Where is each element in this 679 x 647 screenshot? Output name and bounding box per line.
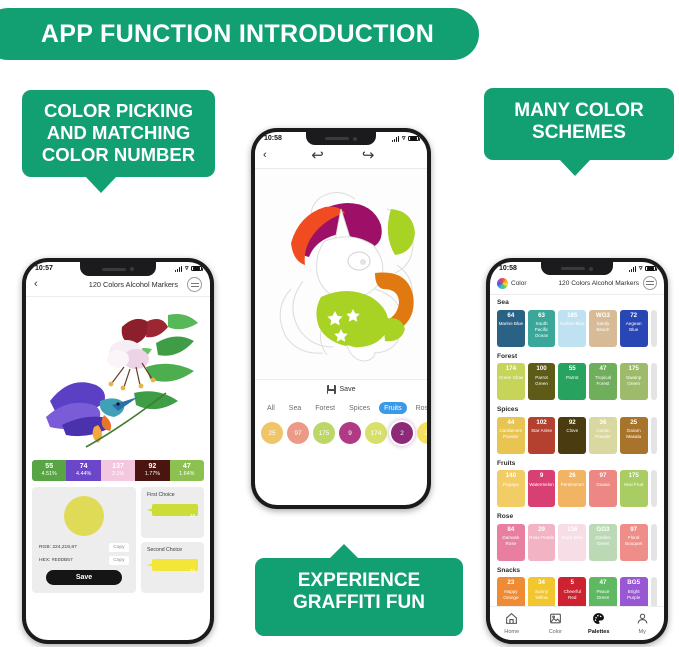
palette-card-name: Watermelon [528,482,555,488]
battery-icon [645,266,656,272]
nav-title: 120 Colors Alcohol Markers [527,280,643,287]
status-time: 10:58 [264,135,282,142]
swatch-item[interactable]: 55 4.51% [32,460,66,481]
swatch-percent: 1.77% [135,471,169,477]
palette-card-name: Parrot Green [528,375,556,386]
callout-graffiti-fun: EXPERIENCE GRAFFITI FUN [255,558,463,636]
palette-card[interactable]: 23Happy Orange [497,577,525,609]
palette-card[interactable]: 136Rose Dew [558,524,586,561]
palette-group: Spices44Cardamom Powder102Star Anise92Cl… [490,402,664,456]
palette-card-name: Guava [595,482,611,488]
tab-color-label: Color [549,629,562,635]
palette-card[interactable]: 9Watermelon [528,470,556,507]
color-wheel-icon [497,278,508,289]
palette-card[interactable]: BG5Bright Purple [620,577,648,609]
palette-card[interactable]: 5Cheerful Red [558,577,586,609]
undo-redo-group: ↩ ↪ [267,146,419,164]
status-indicators: ▿ [629,265,656,272]
palette-group-title: Fruits [497,460,657,467]
palette-card[interactable]: 72Aegean Blue [620,310,648,347]
coloring-canvas[interactable] [255,169,427,379]
signal-icon [629,266,637,272]
signal-icon [392,136,400,142]
palette-card-code: 47 [600,366,607,373]
palette-card-code: 174 [506,366,516,373]
phone-notch [541,262,613,275]
palette-card[interactable]: 174Green Glow [497,363,525,400]
palette-card-name: Happy Orange [497,589,525,600]
color-dot[interactable]: 9 [339,422,361,444]
second-choice-marker: 31 [147,557,198,574]
wifi-icon: ▿ [639,265,643,272]
palette-group: Rose84Damask Rose29Rose Petals136Rose De… [490,509,664,563]
palette-card-code: 47 [600,580,607,587]
palette-card[interactable]: 63South Pacific Ocean [528,310,556,347]
palette-card-code: 175 [629,366,639,373]
status-time: 10:58 [499,265,517,272]
swatch-item[interactable]: 137 3.1% [101,460,135,481]
tab-spices[interactable]: Spices [344,402,375,414]
palette-card[interactable]: 175Kiwi Fruit [620,470,648,507]
palette-card-code: WG3 [596,313,610,320]
save-icon [327,385,336,394]
nav-title: 120 Colors Alcohol Markers [43,280,182,289]
palette-card[interactable]: 25Garam Masala [620,417,648,454]
first-choice-card[interactable]: First Choice 48 [141,487,204,538]
palette-group: Snacks23Happy Orange34Sunny Yellow5Cheer… [490,563,664,610]
menu-icon[interactable] [643,276,657,290]
phone-notch [306,132,376,145]
palette-tab-strip: All Sea Forest Spices Fruits Rose [255,399,427,418]
palette-card-name: Garam Masala [620,428,648,439]
palette-group-title: Sea [497,299,657,306]
save-row[interactable]: Save [255,379,427,399]
status-indicators: ▿ [392,135,419,142]
callout-tail [329,544,359,559]
picked-color-panels: RGB: 224,219,87 Copy HEX: #E0DB57 Copy S… [32,487,204,593]
palette-card-row: 64Marine Blue63South Pacific Ocean185Har… [497,310,657,347]
palette-card-code: 23 [507,580,514,587]
phone-graffiti-editor: 10:58 ▿ ‹ ↩ ↪ [251,128,431,509]
palette-card-name: Rose Petals [528,535,555,541]
person-icon [636,612,649,627]
palette-card-name: Papaya [502,482,520,488]
palette-card-name: Marine Blue [498,321,525,327]
palette-card[interactable]: 55Parrot [558,363,586,400]
marker-number: 31 [190,568,195,573]
bottom-tab-bar: Home Color [490,606,664,640]
header-banner: APP FUNCTION INTRODUCTION [0,8,479,60]
palette-card-name: Cumin Powder [589,428,617,439]
speaker-icon [325,137,349,140]
swatch-number: 74 [66,463,100,471]
callout-color-picking: COLOR PICKING AND MATCHING COLOR NUMBER [22,90,215,177]
save-button[interactable]: Save [46,570,122,585]
marker-number: 48 [190,513,195,518]
palette-card[interactable]: 175Swamp Green [620,363,648,400]
tab-my-label: My [639,629,646,635]
palette-card-code: 175 [629,473,639,480]
palette-card[interactable]: 44Cardamom Powder [497,417,525,454]
palette-group-title: Snacks [497,567,657,574]
home-icon [505,612,518,627]
palette-list[interactable]: Sea64Marine Blue63South Pacific Ocean185… [490,295,664,609]
callout-tail [559,159,591,176]
palette-card-name: Aegean Blue [620,321,648,332]
palette-card-overflow[interactable] [651,470,657,507]
palette-card-name: Parrot [565,375,580,381]
menu-icon[interactable] [187,277,202,292]
tab-my[interactable]: My [621,612,665,635]
palette-card[interactable]: 97Floral Bouquet [620,524,648,561]
phone-screen-left: 10:57 ▿ ‹ 120 Colors Alcohol Markers [26,262,210,640]
palette-card[interactable]: 29Rose Petals [528,524,556,561]
palette-card-code: GG3 [596,527,609,534]
tab-home-label: Home [504,629,519,635]
palette-card-code: 9 [540,473,543,480]
palette-group-title: Rose [497,513,657,520]
wifi-icon: ▿ [402,135,406,142]
color-dot[interactable]: 97 [287,422,309,444]
color-dot[interactable]: 175 [313,422,335,444]
palette-card[interactable]: 185Harbor Blue [558,310,586,347]
wifi-icon: ▿ [185,265,189,272]
palette-card-code: 25 [630,420,637,427]
palette-card-name: Rose Dew [561,535,584,541]
palette-icon [592,612,605,627]
palette-card-name: Peace Green [589,589,617,600]
palette-card-code: 5 [571,580,574,587]
swatch-item[interactable]: 92 1.77% [135,460,169,481]
callout-tail [85,176,117,193]
unicorn-artwork [255,169,427,379]
palette-card-code: 100 [536,366,546,373]
swatch-percent: 1.64% [170,471,204,477]
palette-card-name: Cheerful Red [558,589,586,600]
swatch-number: 55 [32,463,66,471]
palette-card[interactable]: 36Cumin Powder [589,417,617,454]
swatch-item[interactable]: 74 4.44% [66,460,100,481]
palette-card-overflow[interactable] [651,417,657,454]
color-dot-selected[interactable]: 2 [391,422,413,444]
palette-card-code: 84 [507,527,514,534]
palette-card-name: Swamp Green [620,375,648,386]
palette-card-code: 136 [567,527,577,534]
palette-card-code: 36 [600,420,607,427]
palette-card-code: 185 [567,313,577,320]
hummingbird-artwork [26,297,210,455]
palette-card-name: Sandy Beach [589,321,617,332]
hex-value: HEX: #E0DB57 [39,558,73,563]
palette-card[interactable]: 102Star Anise [528,417,556,454]
copy-hex-button[interactable]: Copy [109,556,129,565]
palette-card-name: Kiwi Fruit [623,482,644,488]
camera-icon [353,137,357,141]
tab-sea[interactable]: Sea [284,402,306,414]
editor-toolbar: ‹ ↩ ↪ [255,143,427,169]
palette-card-name: Bright Purple [620,589,648,600]
palette-card-code: 92 [569,420,576,427]
color-dot-strip: 25 97 175 9 174 2 26 [255,418,427,450]
palette-card-name: Tropical Forest [589,375,617,386]
swatch-number: 47 [170,463,204,471]
battery-icon [408,136,419,142]
palette-card-code: 34 [538,580,545,587]
back-button[interactable]: ‹ [34,279,38,290]
palette-card-overflow[interactable] [651,363,657,400]
palette-card-name: Sunny Yellow [528,589,556,600]
undo-icon[interactable]: ↩ [311,146,324,164]
palette-card[interactable]: 100Parrot Green [528,363,556,400]
palette-card[interactable]: GG3Garden Green [589,524,617,561]
palette-card-overflow[interactable] [651,577,657,609]
palette-card-name: Star Anise [530,428,553,434]
color-dot[interactable]: 26 [417,422,427,444]
picked-color-panel: RGB: 224,219,87 Copy HEX: #E0DB57 Copy S… [32,487,136,593]
palette-group: Fruits140Papaya9Watermelon26Persimmon97G… [490,456,664,510]
redo-icon[interactable]: ↪ [362,146,375,164]
palette-card-code: 140 [506,473,516,480]
callout-left-text: COLOR PICKING AND MATCHING COLOR NUMBER [22,90,215,175]
palette-group: Sea64Marine Blue63South Pacific Ocean185… [490,295,664,349]
tab-home[interactable]: Home [490,612,534,635]
first-choice-label: First Choice [147,492,198,498]
phone-screen-mid: 10:58 ▿ ‹ ↩ ↪ [255,132,427,505]
battery-icon [191,266,202,272]
palette-group-title: Spices [497,406,657,413]
tab-all[interactable]: All [262,402,280,414]
palette-card-row: 174Green Glow100Parrot Green55Parrot47Tr… [497,363,657,400]
palette-group-title: Forest [497,353,657,360]
rgb-row: RGB: 224,219,87 Copy [39,543,129,552]
palette-card-name: South Pacific Ocean [528,321,556,338]
tab-color[interactable]: Color [534,612,578,635]
status-time: 10:57 [35,265,53,272]
tab-palettes[interactable]: Palettes [577,612,621,635]
palette-card[interactable]: 140Papaya [497,470,525,507]
palette-card-row: 44Cardamom Powder102Star Anise92Clove36C… [497,417,657,454]
hex-row: HEX: #E0DB57 Copy [39,556,129,565]
color-dot[interactable]: 174 [365,422,387,444]
palette-card-row: 140Papaya9Watermelon26Persimmon97Guava17… [497,470,657,507]
second-choice-label: Second Choice [147,547,198,553]
palette-card[interactable]: 97Guava [589,470,617,507]
phone-screen-right: 10:58 ▿ Color 120 Colors Alcohol Markers… [490,262,664,640]
palette-card-overflow[interactable] [651,524,657,561]
palette-card[interactable]: 26Persimmon [558,470,586,507]
image-icon [549,612,562,627]
choice-panels: First Choice 48 Second Choice 31 [141,487,204,593]
palette-card-code: 72 [630,313,637,320]
palette-card-code: 29 [538,527,545,534]
phone-notch [80,262,156,276]
tab-palettes-label: Palettes [588,629,609,635]
camera-icon [589,267,593,271]
copy-rgb-button[interactable]: Copy [109,543,129,552]
palette-card-code: 63 [538,313,545,320]
palette-card[interactable]: 34Sunny Yellow [528,577,556,609]
palette-card-name: Persimmon [560,482,585,488]
camera-icon [130,267,134,271]
palette-card-overflow[interactable] [651,310,657,347]
swatch-percent: 3.1% [101,471,135,477]
speaker-icon [561,267,585,270]
palette-card-row: 84Damask Rose29Rose Petals136Rose DewGG3… [497,524,657,561]
palette-card-code: 97 [630,527,637,534]
phone-color-picker: 10:57 ▿ ‹ 120 Colors Alcohol Markers [22,258,214,644]
callout-many-color-schemes: MANY COLOR SCHEMES [484,88,674,160]
swatch-percent: 4.51% [32,471,66,477]
palette-card-name: Green Glow [498,375,525,381]
palette-card[interactable]: 47Tropical Forest [589,363,617,400]
first-choice-marker: 48 [147,502,198,519]
status-indicators: ▿ [175,265,202,272]
palette-card-name: Floral Bouquet [620,535,648,546]
speaker-icon [102,268,126,271]
palette-card-name: Garden Green [589,535,617,546]
palette-card[interactable]: 64Marine Blue [497,310,525,347]
palette-card-code: 44 [507,420,514,427]
infographic-page: APP FUNCTION INTRODUCTION COLOR PICKING … [0,0,679,647]
palette-card-name: Harbor Blue [559,321,586,327]
palette-card-code: 97 [600,473,607,480]
palette-group: Forest174Green Glow100Parrot Green55Parr… [490,349,664,403]
palette-card-name: Damask Rose [497,535,525,546]
palettes-nav-bar: Color 120 Colors Alcohol Markers [490,273,664,295]
tab-forest[interactable]: Forest [310,402,340,414]
palette-card-name: Cardamom Powder [497,428,525,439]
palette-card[interactable]: 92Clove [558,417,586,454]
palette-card-code: BG5 [627,580,640,587]
app-name-label: Color [511,280,527,287]
palette-card-code: 102 [536,420,546,427]
swatch-percent: 4.44% [66,471,100,477]
second-choice-card[interactable]: Second Choice 31 [141,542,204,593]
palette-card-name: Clove [565,428,579,434]
nav-bar: ‹ 120 Colors Alcohol Markers [26,273,210,297]
rgb-value: RGB: 224,219,87 [39,545,77,550]
callout-bottom-text: EXPERIENCE GRAFFITI FUN [255,558,463,625]
phone-palettes: 10:58 ▿ Color 120 Colors Alcohol Markers… [486,258,668,644]
swatch-number: 137 [101,463,135,471]
palette-card-row: 23Happy Orange34Sunny Yellow5Cheerful Re… [497,577,657,609]
save-label: Save [340,386,356,393]
swatch-item[interactable]: 47 1.64% [170,460,204,481]
palette-card[interactable]: WG3Sandy Beach [589,310,617,347]
signal-icon [175,266,183,272]
photo-preview[interactable] [26,297,210,455]
tab-fruits[interactable]: Fruits [379,402,407,414]
picked-color-sample [64,496,104,536]
page-title: APP FUNCTION INTRODUCTION [27,20,434,49]
palette-card[interactable]: 47Peace Green [589,577,617,609]
swatch-number: 92 [135,463,169,471]
palette-card-code: 64 [507,313,514,320]
callout-right-text: MANY COLOR SCHEMES [484,88,674,155]
palette-card-code: 55 [569,366,576,373]
tab-rose[interactable]: Rose [411,402,427,414]
palette-card-code: 26 [569,473,576,480]
palette-card[interactable]: 84Damask Rose [497,524,525,561]
color-dot[interactable]: 25 [261,422,283,444]
color-swatch-bar: 55 4.51% 74 4.44% 137 3.1% 92 1.77% 47 [32,460,204,481]
